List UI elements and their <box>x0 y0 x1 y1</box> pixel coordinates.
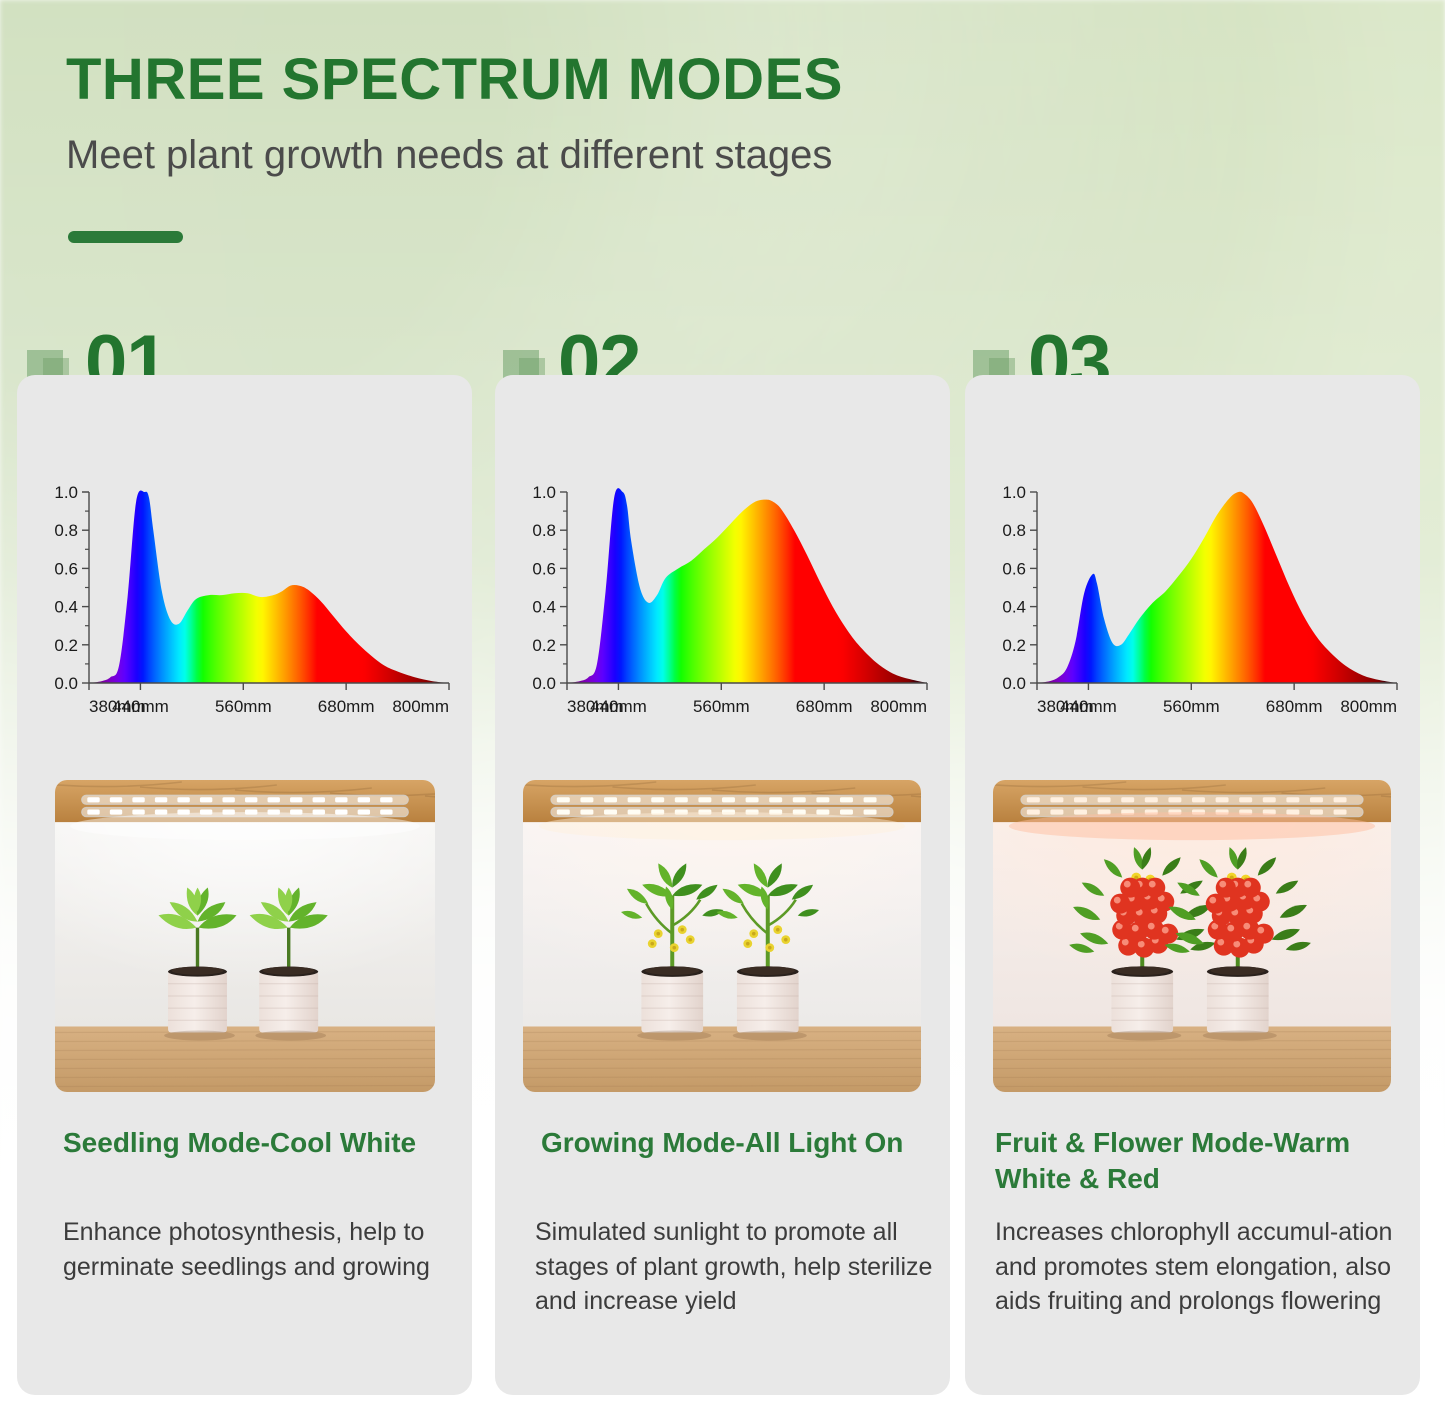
svg-text:560mm: 560mm <box>215 697 272 716</box>
plant-pot <box>255 967 326 1041</box>
spectrum-chart-3: 0.00.20.40.60.81.0380mm440mm560mm680mm80… <box>979 480 1407 735</box>
spectrum-area <box>567 488 927 683</box>
plant-pot <box>164 967 235 1041</box>
mode-description-2: Simulated sunlight to promote all stages… <box>535 1215 935 1319</box>
svg-text:1.0: 1.0 <box>532 483 556 502</box>
svg-text:560mm: 560mm <box>1163 697 1220 716</box>
svg-text:440mm: 440mm <box>112 697 169 716</box>
mode-card-2[interactable]: 0.00.20.40.60.81.0380mm440mm560mm680mm80… <box>495 375 950 1395</box>
svg-text:0.0: 0.0 <box>532 674 556 693</box>
plant-pot <box>1107 966 1181 1040</box>
svg-text:1.0: 1.0 <box>1002 483 1026 502</box>
svg-text:0.4: 0.4 <box>532 598 556 617</box>
svg-text:0.0: 0.0 <box>54 674 78 693</box>
mode-description-3: Increases chlorophyll accumul-ation and … <box>995 1215 1405 1319</box>
mode-card-1[interactable]: 0.00.20.40.60.81.0380mm440mm560mm680mm80… <box>17 375 472 1395</box>
mode-card-3[interactable]: 0.00.20.40.60.81.0380mm440mm560mm680mm80… <box>965 375 1420 1395</box>
svg-text:800mm: 800mm <box>1340 697 1397 716</box>
svg-text:0.8: 0.8 <box>532 521 556 540</box>
spectrum-area <box>1037 492 1397 683</box>
svg-text:0.6: 0.6 <box>54 559 78 578</box>
svg-text:560mm: 560mm <box>693 697 750 716</box>
mode-title-2: Growing Mode-All Light On <box>541 1125 927 1161</box>
svg-text:680mm: 680mm <box>796 697 853 716</box>
svg-text:680mm: 680mm <box>318 697 375 716</box>
mode-photo-2 <box>523 780 921 1092</box>
spectrum-area <box>89 490 449 683</box>
svg-text:0.2: 0.2 <box>1002 636 1026 655</box>
svg-text:0.8: 0.8 <box>1002 521 1026 540</box>
svg-text:680mm: 680mm <box>1266 697 1323 716</box>
plant-pot <box>733 966 807 1040</box>
page-subtitle: Meet plant growth needs at different sta… <box>66 133 832 178</box>
svg-text:0.6: 0.6 <box>1002 559 1026 578</box>
mode-photo-3 <box>993 780 1391 1092</box>
svg-text:0.8: 0.8 <box>54 521 78 540</box>
svg-text:0.4: 0.4 <box>1002 598 1026 617</box>
svg-text:0.2: 0.2 <box>54 636 78 655</box>
svg-text:800mm: 800mm <box>392 697 449 716</box>
title-accent-bar <box>68 231 183 243</box>
mode-description-1: Enhance photosynthesis, help to germinat… <box>63 1215 455 1284</box>
svg-text:0.6: 0.6 <box>532 559 556 578</box>
plant-pot <box>637 966 711 1040</box>
svg-text:1.0: 1.0 <box>54 483 78 502</box>
spectrum-chart-2: 0.00.20.40.60.81.0380mm440mm560mm680mm80… <box>509 480 937 735</box>
svg-text:0.4: 0.4 <box>54 598 78 617</box>
spectrum-chart-1: 0.00.20.40.60.81.0380mm440mm560mm680mm80… <box>31 480 459 735</box>
svg-text:0.0: 0.0 <box>1002 674 1026 693</box>
plant-pot <box>1203 966 1277 1040</box>
svg-text:800mm: 800mm <box>870 697 927 716</box>
svg-text:440mm: 440mm <box>1060 697 1117 716</box>
mode-title-3: Fruit & Flower Mode-Warm White & Red <box>995 1125 1395 1197</box>
svg-text:440mm: 440mm <box>590 697 647 716</box>
page-title: THREE SPECTRUM MODES <box>66 46 843 113</box>
infographic-stage: THREE SPECTRUM MODES Meet plant growth n… <box>0 0 1445 1406</box>
mode-title-1: Seedling Mode-Cool White <box>63 1125 449 1161</box>
mode-photo-1 <box>55 780 435 1092</box>
svg-text:0.2: 0.2 <box>532 636 556 655</box>
